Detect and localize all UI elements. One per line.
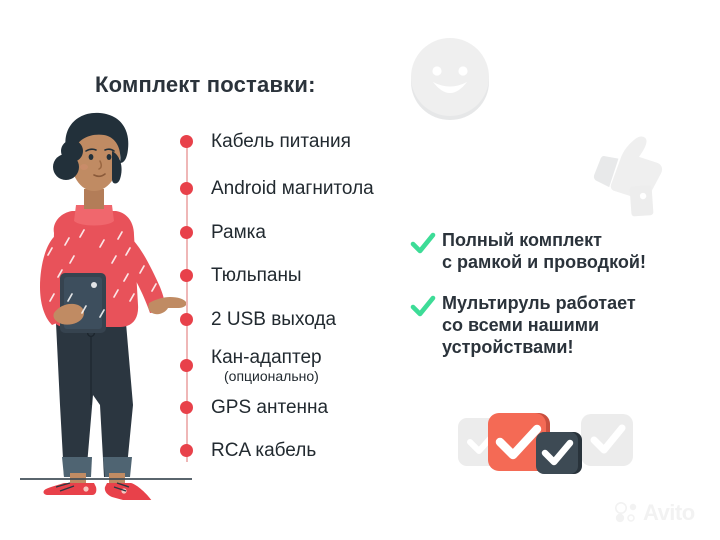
spec-list-item-label: RCA кабель [211,441,316,461]
spec-list-item: Кабель питания [180,132,351,152]
ground-line [20,478,192,480]
thumbs-up-icon [578,118,678,218]
avito-wordmark: Avito [643,500,695,526]
benefit-text-2: Мультируль работает со всеми нашими устр… [442,293,636,359]
bullet-dot-icon [180,135,193,148]
spec-list-item: RCA кабель [180,441,316,461]
bullet-dot-icon [180,444,193,457]
smiley-face-icon [404,32,496,124]
bullet-dot-icon [180,226,193,239]
check-icon [410,294,436,320]
spec-list-item-label: Рамка [211,223,266,243]
spec-list-item-label: Тюльпаны [211,266,302,286]
spec-list-item-label: Кабель питания [211,132,351,152]
spec-list-item-label: Кан-адаптер(опционально) [211,348,322,384]
bullet-dot-icon [180,269,193,282]
spec-list-item: Android магнитола [180,179,374,199]
benefit-item-1: Полный комплект с рамкой и проводкой! [410,230,646,274]
benefit-item-2: Мультируль работает со всеми нашими устр… [410,293,636,359]
spec-list-item-label: GPS антенна [211,398,328,418]
benefit-text-1: Полный комплект с рамкой и проводкой! [442,230,646,274]
checkbox-group-icon [458,410,633,485]
spec-list-item: Тюльпаны [180,266,302,286]
page-title: Комплект поставки: [95,72,316,98]
bullet-dot-icon [180,182,193,195]
bullet-dot-icon [180,401,193,414]
check-icon [410,231,436,257]
spec-list-item-label: 2 USB выхода [211,310,336,330]
bullet-dot-icon [180,359,193,372]
bullet-dot-icon [180,313,193,326]
spec-list-item-sublabel: (опционально) [224,369,322,384]
spec-list-item-label: Android магнитола [211,179,374,199]
spec-list-item: Кан-адаптер(опционально) [180,348,322,384]
avito-watermark: Avito [614,500,695,526]
spec-list-item: GPS антенна [180,398,328,418]
woman-pointing-illustration [8,105,188,500]
spec-list-item: Рамка [180,223,266,243]
product-infographic-canvas: Комплект поставки: [0,0,720,540]
spec-list-item: 2 USB выхода [180,310,336,330]
avito-dots-icon [614,502,640,524]
